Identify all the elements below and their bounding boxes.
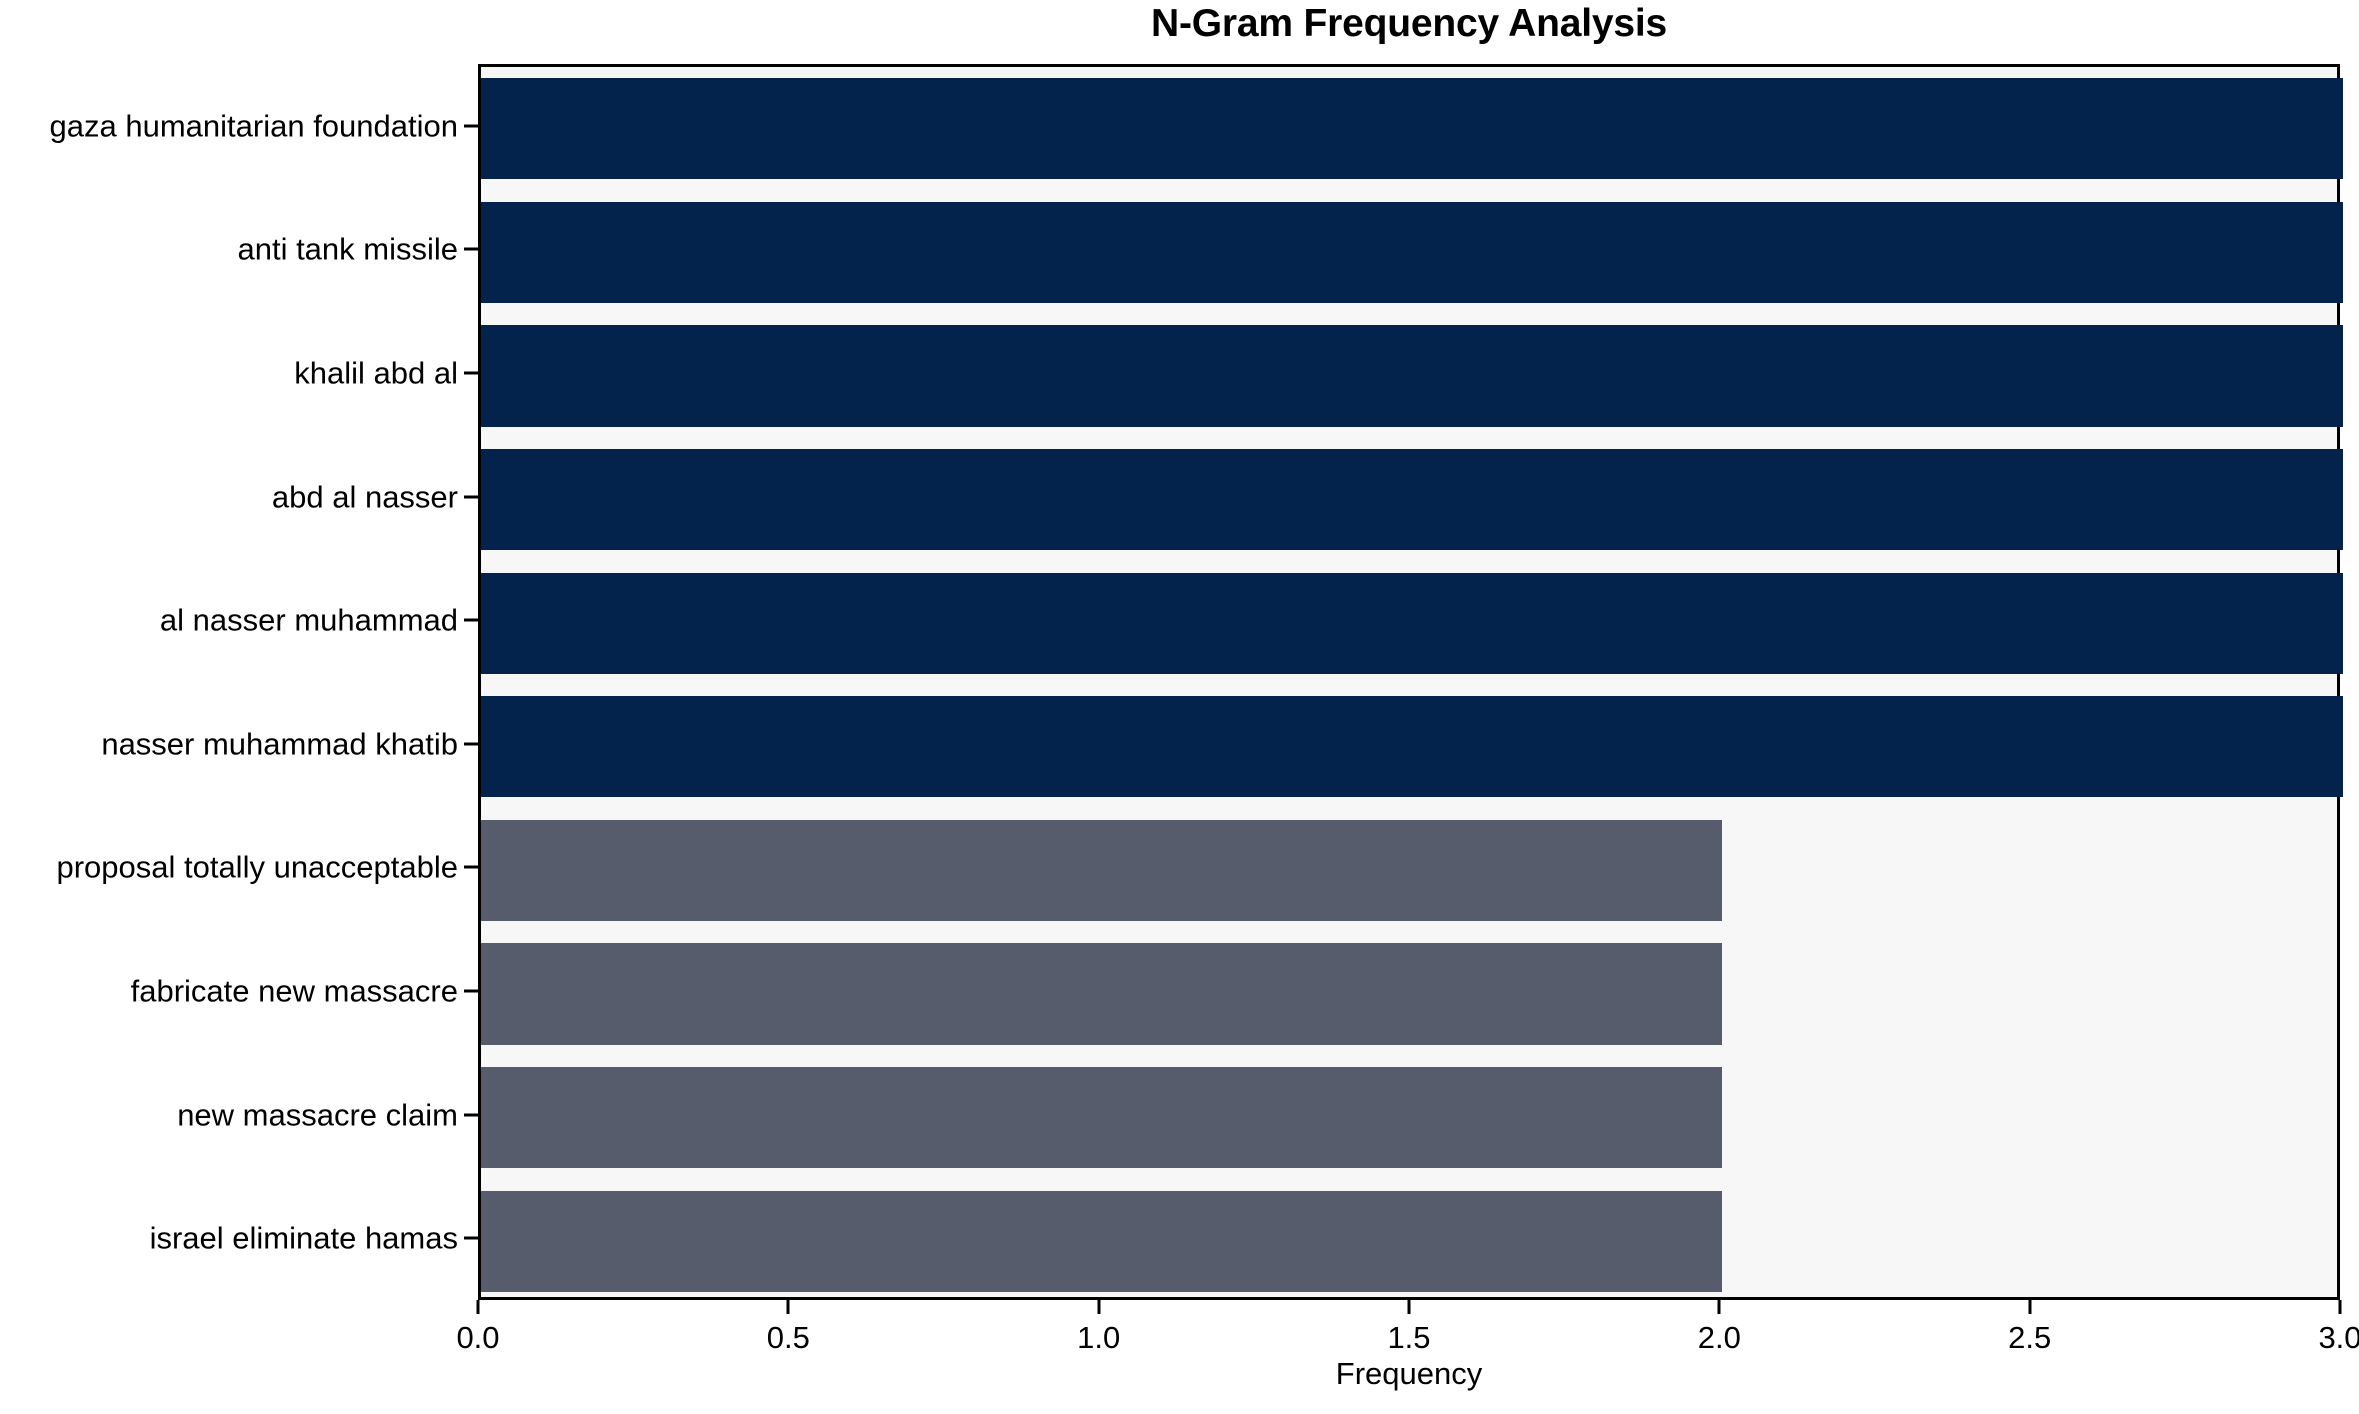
plot-area <box>478 64 2340 1300</box>
x-tick-mark <box>2028 1300 2031 1314</box>
y-tick-label: khalil abd al <box>294 358 458 389</box>
x-tick-label: 0.5 <box>767 1322 810 1353</box>
y-tick-label: israel eliminate hamas <box>150 1223 458 1254</box>
bar-9 <box>481 1191 1722 1292</box>
bar-4 <box>481 573 2343 674</box>
x-axis-label: Frequency <box>478 1356 2340 1392</box>
x-tick-label: 2.5 <box>2008 1322 2051 1353</box>
y-tick-mark <box>464 372 478 375</box>
y-tick-label: anti tank missile <box>237 234 458 265</box>
figure-canvas: N-Gram Frequency Analysis gaza humanitar… <box>0 0 2359 1414</box>
x-tick-mark <box>1097 1300 1100 1314</box>
y-tick-mark <box>464 495 478 498</box>
bar-8 <box>481 1067 1722 1168</box>
x-tick-mark <box>477 1300 480 1314</box>
bar-6 <box>481 820 1722 921</box>
x-tick-mark <box>1718 1300 1721 1314</box>
y-tick-mark <box>464 1237 478 1240</box>
x-tick-label: 1.0 <box>1077 1322 1120 1353</box>
bar-5 <box>481 696 2343 797</box>
x-tick-label: 0.0 <box>456 1322 499 1353</box>
y-tick-label: fabricate new massacre <box>131 976 458 1007</box>
bars-layer <box>481 67 2337 1297</box>
y-tick-mark <box>464 1113 478 1116</box>
y-tick-label: gaza humanitarian foundation <box>50 110 458 141</box>
bar-3 <box>481 449 2343 550</box>
bar-1 <box>481 202 2343 303</box>
x-tick-mark <box>787 1300 790 1314</box>
y-tick-mark <box>464 990 478 993</box>
y-tick-label: nasser muhammad khatib <box>101 728 458 759</box>
y-axis-ticks: gaza humanitarian foundationanti tank mi… <box>0 64 478 1300</box>
y-tick-mark <box>464 248 478 251</box>
x-tick-mark <box>2339 1300 2342 1314</box>
bar-2 <box>481 325 2343 426</box>
y-tick-mark <box>464 866 478 869</box>
y-tick-mark <box>464 742 478 745</box>
bar-7 <box>481 943 1722 1044</box>
y-tick-label: al nasser muhammad <box>160 605 458 636</box>
bar-0 <box>481 78 2343 179</box>
y-tick-label: abd al nasser <box>272 481 458 512</box>
x-tick-label: 3.0 <box>2318 1322 2359 1353</box>
x-tick-mark <box>1408 1300 1411 1314</box>
page-title: N-Gram Frequency Analysis <box>478 2 2340 46</box>
y-tick-label: new massacre claim <box>177 1099 458 1130</box>
y-tick-label: proposal totally unacceptable <box>56 852 458 883</box>
y-tick-mark <box>464 619 478 622</box>
y-tick-mark <box>464 124 478 127</box>
x-tick-label: 2.0 <box>1698 1322 1741 1353</box>
x-tick-label: 1.5 <box>1387 1322 1430 1353</box>
